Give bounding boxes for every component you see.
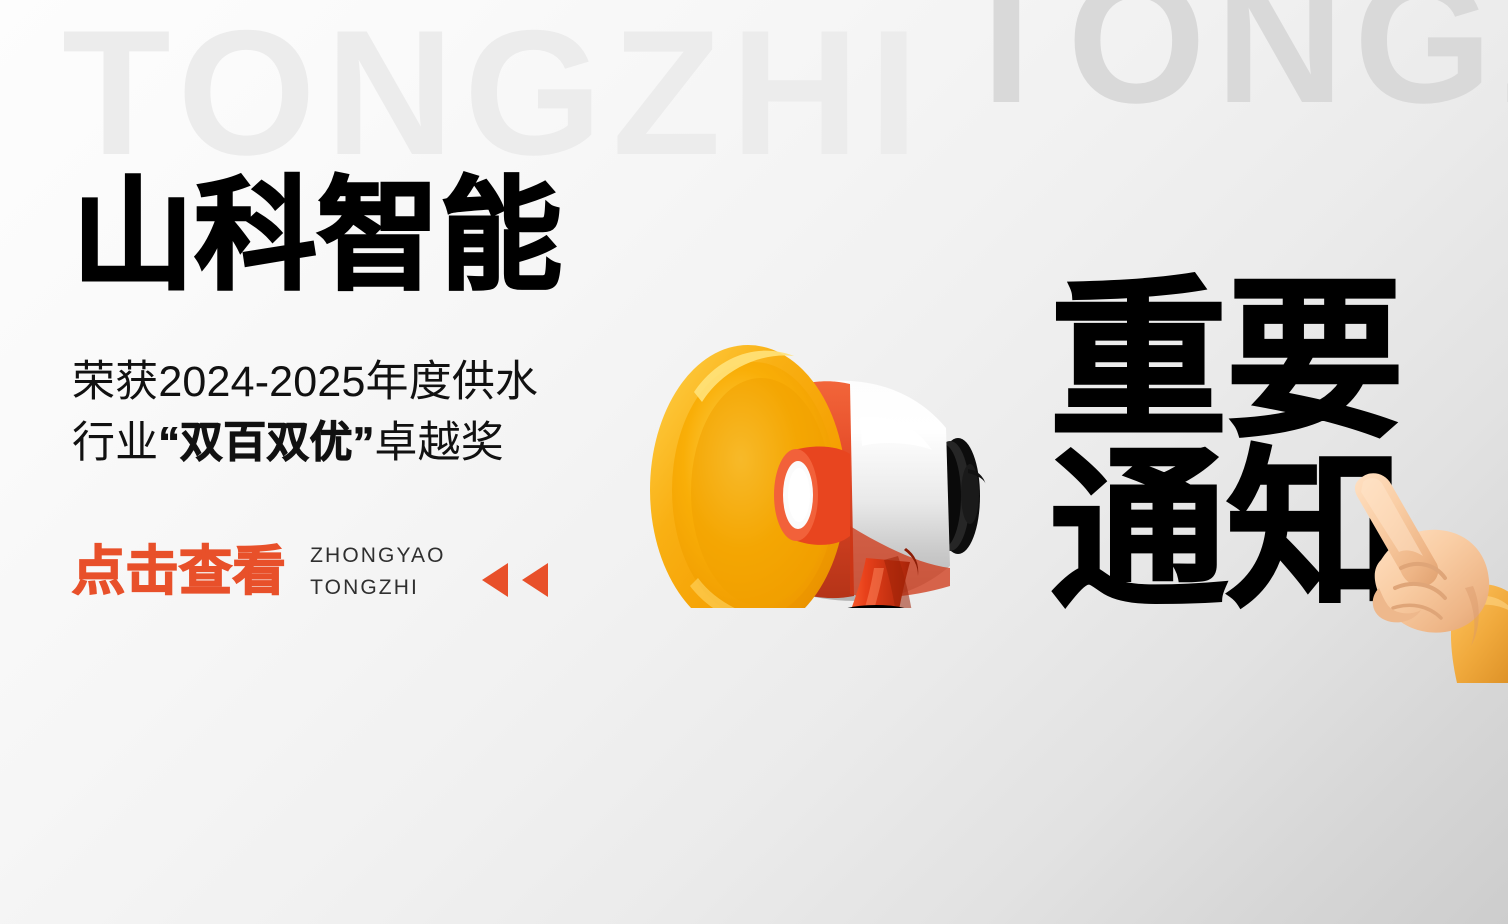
watermark-tongzhi-right: TONGZHI	[952, 0, 1508, 130]
award-line-2-emphasis: “双百双优”	[158, 419, 374, 467]
cta-pinyin-caption: ZHONGYAO TONGZHI	[310, 540, 445, 603]
cta-arrow-group	[482, 547, 548, 597]
award-line-2-suffix: 卓越奖	[374, 419, 504, 467]
triangle-left-icon	[522, 563, 548, 597]
megaphone-base	[814, 605, 938, 608]
headline-line-1: 重要	[1050, 276, 1403, 446]
cta-view-button[interactable]: 点击查看	[72, 545, 286, 598]
right-headline: 重要 通知	[1050, 276, 1393, 617]
pointing-hand-icon	[1345, 468, 1508, 683]
award-line-2-prefix: 行业	[72, 419, 158, 467]
watermark-tongzhi-main: TONGZHI	[62, 4, 928, 182]
cta-pinyin-line-2: TONGZHI	[310, 572, 445, 604]
promo-banner: TONGZHI TONGZHI 山科智能 荣获2024-2025年度供水 行业“…	[0, 0, 1508, 924]
cta-pinyin-line-1: ZHONGYAO	[310, 540, 445, 572]
megaphone-icon	[598, 268, 1038, 608]
triangle-left-icon	[482, 563, 508, 597]
